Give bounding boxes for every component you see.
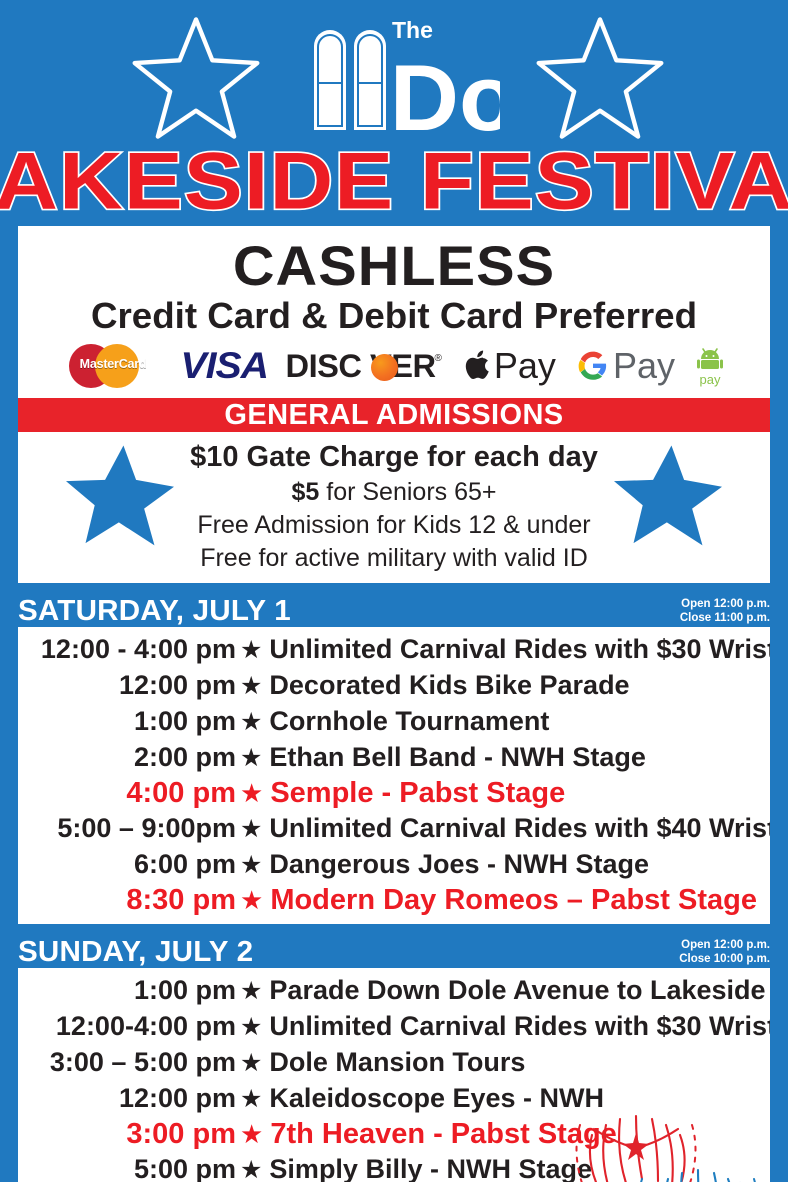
row-event: 7th Heaven - Pabst Stage <box>270 1117 617 1152</box>
apple-pay-label: Pay <box>494 347 556 385</box>
row-time: 8:30 pm <box>18 883 236 918</box>
row-event: Modern Day Romeos – Pabst Stage <box>270 883 757 918</box>
google-g-icon <box>578 351 608 381</box>
saturday-schedule: 12:00 - 4:00 pm ★ Unlimited Carnival Rid… <box>18 627 770 924</box>
apple-pay-icon: Pay <box>464 347 556 385</box>
row-event: Dole Mansion Tours <box>269 1045 525 1080</box>
schedule-row: 5:00 pm ★ Simply Billy - NWH Stage <box>18 1152 770 1182</box>
row-event: Unlimited Carnival Rides with $30 Wristb… <box>269 632 770 667</box>
payment-and-admissions-card: CASHLESS Credit Card & Debit Card Prefer… <box>18 226 770 583</box>
star-bullet-icon: ★ <box>236 1046 269 1081</box>
schedule-row-highlight: 4:00 pm ★ Semple - Pabst Stage <box>18 776 770 811</box>
star-bullet-icon: ★ <box>236 883 270 918</box>
page-title: LAKESIDE FESTIVAL <box>0 137 788 226</box>
star-bullet-icon: ★ <box>236 812 269 847</box>
poster-title-band: LAKESIDE FESTIVAL <box>0 140 788 226</box>
row-event: Decorated Kids Bike Parade <box>269 668 629 703</box>
schedule-row: 6:00 pm ★ Dangerous Joes - NWH Stage <box>18 847 770 883</box>
visa-icon: VISA <box>181 346 268 386</box>
schedule-row: 2:00 pm ★ Ethan Bell Band - NWH Stage <box>18 740 770 776</box>
row-time: 12:00 pm <box>18 1081 236 1116</box>
row-time: 2:00 pm <box>18 740 236 775</box>
star-bullet-icon: ★ <box>236 669 269 704</box>
android-pay-icon: pay <box>697 346 723 386</box>
general-admissions-body: $10 Gate Charge for each day $5 for Seni… <box>18 432 770 583</box>
row-time: 5:00 – 9:00pm <box>18 811 236 846</box>
star-outline-icon <box>126 14 266 142</box>
star-outline-icon <box>530 14 670 142</box>
schedule-row: 1:00 pm ★ Cornhole Tournament <box>18 704 770 740</box>
schedule-row: 12:00-4:00 pm ★ Unlimited Carnival Rides… <box>18 1009 770 1045</box>
saturday-open-time: Open 12:00 p.m. <box>680 597 770 611</box>
row-event: Kaleidoscope Eyes - NWH <box>269 1081 604 1116</box>
row-event: Unlimited Carnival Rides with $30 Wristb… <box>269 1009 770 1044</box>
schedule-row-highlight: 3:00 pm ★ 7th Heaven - Pabst Stage <box>18 1117 770 1152</box>
sunday-open-time: Open 12:00 p.m. <box>679 938 770 952</box>
star-bullet-icon: ★ <box>236 1153 269 1182</box>
star-bullet-icon: ★ <box>236 1117 270 1152</box>
dole-logo: The Dole <box>300 12 500 134</box>
star-filled-icon <box>606 442 730 550</box>
row-time: 4:00 pm <box>18 776 236 811</box>
schedule-row: 3:00 – 5:00 pm ★ Dole Mansion Tours <box>18 1045 770 1081</box>
general-admissions-bar: GENERAL ADMISSIONS <box>18 398 770 432</box>
row-event: Parade Down Dole Avenue to Lakeside Fest… <box>269 973 770 1008</box>
row-event: Unlimited Carnival Rides with $40 Wristb… <box>269 811 770 846</box>
schedule-row: 12:00 pm ★ Kaleidoscope Eyes - NWH <box>18 1081 770 1117</box>
accepted-payment-logos: MasterCard VISA DISC VER ® Pay <box>18 336 770 398</box>
schedule-row: 12:00 - 4:00 pm ★ Unlimited Carnival Rid… <box>18 632 770 668</box>
logo-the-text: The <box>392 17 433 43</box>
day-header-saturday: SATURDAY, JULY 1 Open 12:00 p.m. Close 1… <box>18 589 770 627</box>
discover-label: DISC VER <box>286 349 436 383</box>
row-event: Dangerous Joes - NWH Stage <box>269 847 649 882</box>
cashless-headline: CASHLESS <box>7 226 782 296</box>
star-bullet-icon: ★ <box>236 974 269 1009</box>
discover-icon: DISC VER ® <box>287 349 442 383</box>
star-bullet-icon: ★ <box>236 633 269 668</box>
star-bullet-icon: ★ <box>236 1010 269 1045</box>
poster-header: The Dole <box>0 0 788 140</box>
row-time: 1:00 pm <box>18 704 236 739</box>
android-robot-icon <box>697 346 723 374</box>
saturday-close-time: Close 11:00 p.m. <box>680 611 770 625</box>
row-event: Semple - Pabst Stage <box>270 776 565 811</box>
mastercard-label: MasterCard <box>65 357 161 371</box>
row-event: Cornhole Tournament <box>269 704 549 739</box>
row-time: 6:00 pm <box>18 847 236 882</box>
senior-price-amount: $5 <box>292 478 320 506</box>
schedule-row: 1:00 pm ★ Parade Down Dole Avenue to Lak… <box>18 973 770 1009</box>
sunday-hours: Open 12:00 p.m. Close 10:00 p.m. <box>679 938 770 968</box>
festival-poster: The Dole LAKESIDE FESTIVAL CASHLESS Cred… <box>0 0 788 1182</box>
sunday-close-time: Close 10:00 p.m. <box>679 952 770 966</box>
schedule-row: 12:00 pm ★ Decorated Kids Bike Parade <box>18 668 770 704</box>
row-time: 3:00 pm <box>18 1117 236 1152</box>
row-time: 1:00 pm <box>18 973 236 1008</box>
row-time: 12:00 pm <box>18 668 236 703</box>
sunday-title: SUNDAY, JULY 2 <box>18 936 253 968</box>
row-time: 3:00 – 5:00 pm <box>18 1045 236 1080</box>
row-time: 12:00 - 4:00 pm <box>18 632 236 667</box>
star-bullet-icon: ★ <box>236 741 269 776</box>
row-event: Simply Billy - NWH Stage <box>269 1152 592 1182</box>
row-time: 12:00-4:00 pm <box>18 1009 236 1044</box>
mastercard-icon: MasterCard <box>65 344 161 388</box>
saturday-hours: Open 12:00 p.m. Close 11:00 p.m. <box>680 597 770 627</box>
logo-dole-text: Dole <box>390 46 500 134</box>
schedule-row-highlight: 8:30 pm ★ Modern Day Romeos – Pabst Stag… <box>18 883 770 918</box>
schedule-row: 5:00 – 9:00pm ★ Unlimited Carnival Rides… <box>18 811 770 847</box>
row-event: Ethan Bell Band - NWH Stage <box>269 740 646 775</box>
google-pay-label: Pay <box>613 347 675 385</box>
star-bullet-icon: ★ <box>236 848 269 883</box>
android-pay-label: pay <box>700 373 721 386</box>
dole-logo-mark: The Dole <box>300 12 500 134</box>
senior-price-label: for Seniors 65+ <box>319 478 496 506</box>
google-pay-icon: Pay <box>578 347 675 385</box>
apple-logo-icon <box>464 350 490 382</box>
saturday-title: SATURDAY, JULY 1 <box>18 595 291 627</box>
row-time: 5:00 pm <box>18 1152 236 1182</box>
star-bullet-icon: ★ <box>236 705 269 740</box>
star-bullet-icon: ★ <box>236 1082 269 1117</box>
star-filled-icon <box>58 442 182 550</box>
star-bullet-icon: ★ <box>236 776 270 811</box>
cashless-subhead: Credit Card & Debit Card Preferred <box>10 296 777 336</box>
sunday-schedule: 1:00 pm ★ Parade Down Dole Avenue to Lak… <box>18 968 770 1182</box>
day-header-sunday: SUNDAY, JULY 2 Open 12:00 p.m. Close 10:… <box>18 930 770 968</box>
